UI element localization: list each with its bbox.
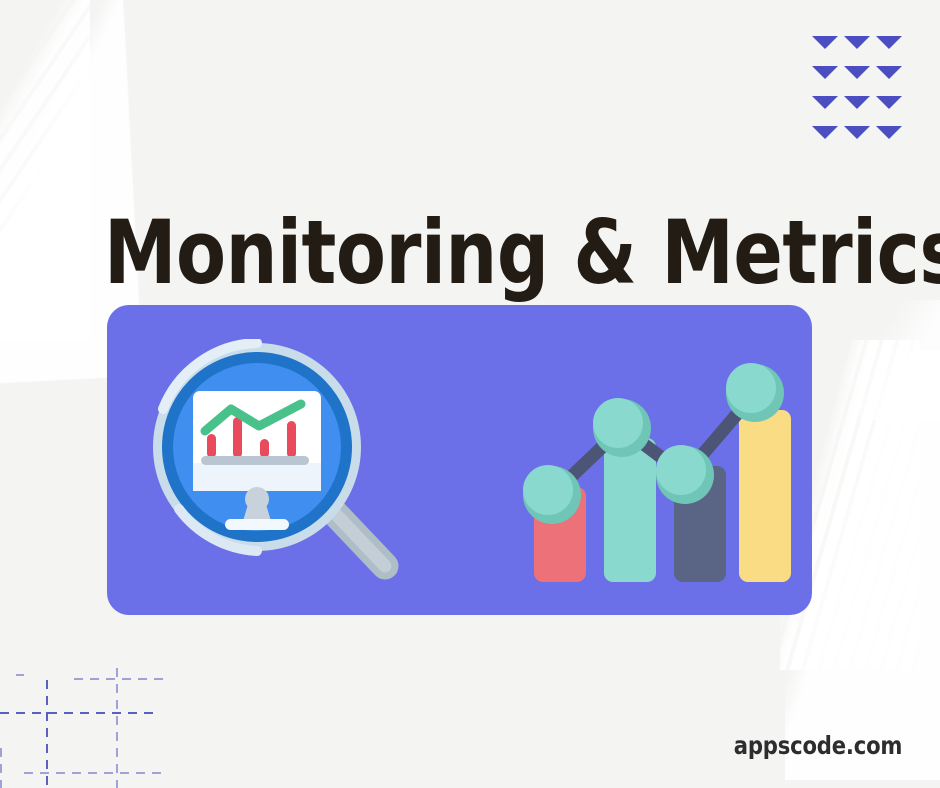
triangle-down-icon: [876, 126, 902, 139]
screen-bar: [207, 434, 216, 458]
dashed-dot: [16, 674, 24, 676]
bar-chart-with-line-icon: [522, 335, 792, 590]
dashed-grid-decoration: [0, 660, 164, 788]
bar-yellow: [739, 410, 791, 582]
page-title: Monitoring & Metrics: [104, 209, 822, 297]
screen-bar: [287, 421, 296, 458]
screen-bar: [260, 439, 269, 458]
magnifying-glass-chart-icon: [149, 339, 429, 589]
triangle-down-icon: [844, 36, 870, 49]
dashed-line-horizontal: [24, 772, 164, 774]
triangle-down-icon: [812, 126, 838, 139]
data-point: [726, 363, 784, 422]
monitor-stand-foot: [225, 519, 289, 530]
triangle-down-icon: [844, 126, 870, 139]
dashed-line-horizontal: [0, 712, 160, 714]
poster-canvas: Monitoring & Metrics: [0, 0, 940, 788]
screen-axis: [201, 456, 309, 465]
brand-url: appscode.com: [733, 731, 902, 760]
data-point: [593, 398, 651, 457]
triangle-down-icon: [844, 66, 870, 79]
triangle-down-icon: [876, 96, 902, 109]
triangle-down-icon: [812, 96, 838, 109]
triangle-down-icon: [812, 36, 838, 49]
triangle-grid-decoration: [812, 36, 908, 156]
dashed-line-horizontal: [74, 678, 164, 680]
triangle-down-icon: [812, 66, 838, 79]
torn-paper-left-fringe: [0, 0, 90, 340]
screen-bar: [233, 417, 242, 458]
dashed-line-vertical: [116, 668, 118, 788]
magnifier-handle: [329, 507, 385, 566]
triangle-down-icon: [844, 96, 870, 109]
dashed-line-vertical: [46, 680, 48, 788]
illustration-card: [107, 305, 812, 615]
torn-paper-right-top: [860, 300, 940, 420]
triangle-down-icon: [876, 36, 902, 49]
bar-teal: [604, 438, 656, 582]
dashed-line-vertical: [0, 748, 2, 788]
triangle-down-icon: [876, 66, 902, 79]
